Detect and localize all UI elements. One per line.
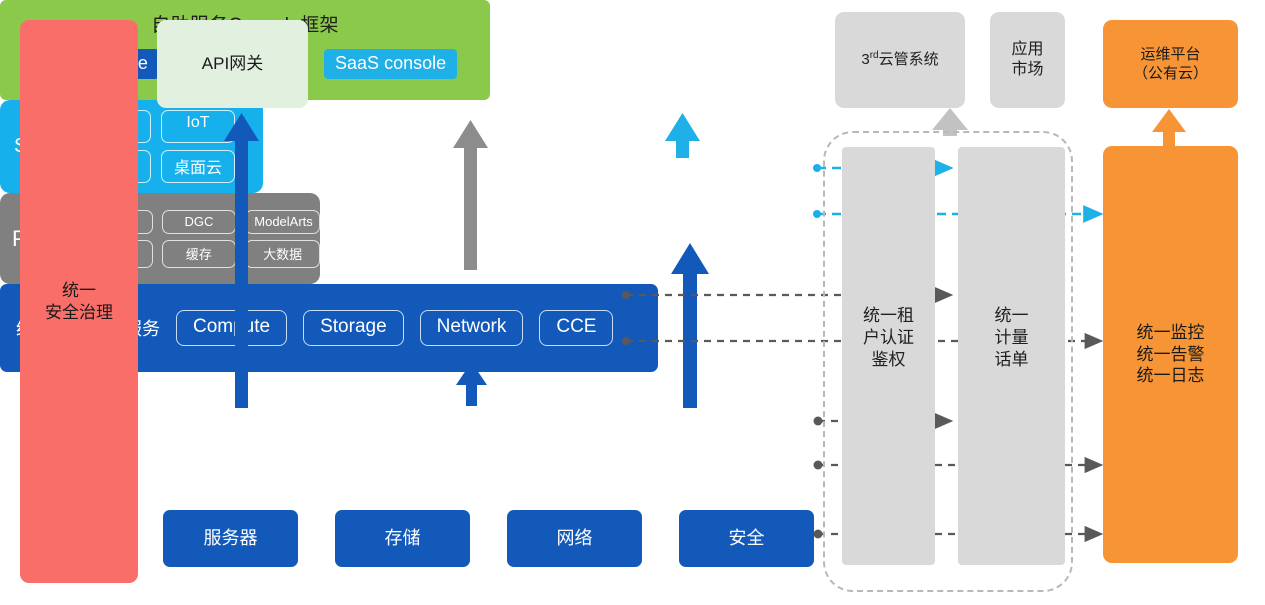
resource-box-security[interactable]: 安全: [679, 510, 814, 567]
unified-monitoring-alarm-log-column[interactable]: 统一监控 统一告警 统一日志: [1103, 146, 1238, 563]
ops-platform-line-2: （公有云）: [1133, 64, 1208, 83]
tenant-auth-line-3: 鉴权: [842, 349, 935, 371]
arrow-infra-to-apigateway: [224, 113, 259, 408]
unified-security-governance-panel[interactable]: 统一 安全治理: [20, 20, 138, 583]
api-gateway-box[interactable]: API网关: [157, 20, 308, 108]
arrow-opsbar-to-opsplatform: [1152, 109, 1186, 146]
arrow-infra-to-paas: [456, 362, 487, 406]
resource-label-server: 服务器: [204, 527, 258, 550]
ops-platform-line-1: 运维平台: [1133, 45, 1208, 64]
metering-line-1: 统一: [958, 305, 1065, 327]
opsbar-line-1: 统一监控: [1137, 322, 1205, 344]
ops-platform-box[interactable]: 运维平台 （公有云）: [1103, 20, 1238, 108]
third-cloud-label: 3rd云管系统: [861, 50, 938, 69]
resource-box-network[interactable]: 网络: [507, 510, 642, 567]
api-gateway-label: API网关: [202, 53, 263, 75]
governance-line-1: 统一: [45, 280, 113, 302]
opsbar-line-3: 统一日志: [1137, 365, 1205, 387]
arrow-saas-to-console: [665, 113, 700, 158]
unified-tenant-auth-column[interactable]: 统一租 户认证 鉴权: [842, 147, 935, 565]
third-party-cloud-mgmt-box[interactable]: 3rd云管系统: [835, 12, 965, 108]
resource-label-network: 网络: [557, 527, 593, 550]
resource-label-security: 安全: [729, 527, 765, 550]
unified-metering-billing-column[interactable]: 统一 计量 话单: [958, 147, 1065, 565]
governance-line-2: 安全治理: [45, 302, 113, 324]
metering-line-3: 话单: [958, 349, 1065, 371]
tenant-auth-line-2: 户认证: [842, 327, 935, 349]
app-market-box[interactable]: 应用 市场: [990, 12, 1065, 108]
arrow-paas-to-console: [453, 120, 488, 270]
metering-line-2: 计量: [958, 327, 1065, 349]
arrow-infra-to-saas: [671, 243, 709, 408]
resource-label-storage: 存储: [385, 527, 421, 550]
app-market-line-2: 市场: [1011, 60, 1043, 80]
tenant-auth-line-1: 统一租: [842, 305, 935, 327]
opsbar-line-2: 统一告警: [1137, 344, 1205, 366]
resource-box-server[interactable]: 服务器: [163, 510, 298, 567]
app-market-line-1: 应用: [1011, 40, 1043, 60]
resource-box-storage[interactable]: 存储: [335, 510, 470, 567]
